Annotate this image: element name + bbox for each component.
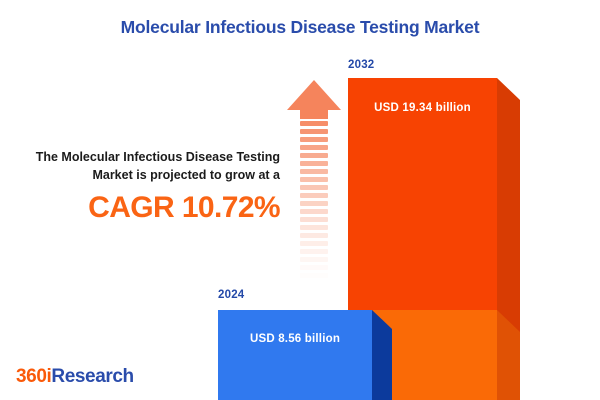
arrow-stripe: [300, 177, 328, 182]
arrow-stripe: [300, 257, 328, 262]
arrow-stripe: [300, 129, 328, 134]
arrow-stripe: [300, 193, 328, 198]
arrow-stripe: [300, 153, 328, 158]
bar-2024-value-label: USD 8.56 billion: [218, 333, 372, 345]
bar-2024-face: [218, 310, 372, 400]
arrow-stripe: [300, 281, 328, 286]
bar-label-year-2024: 2024: [218, 289, 244, 301]
arrow-neck: [300, 109, 328, 119]
infographic-canvas: Molecular Infectious Disease Testing Mar…: [0, 0, 600, 400]
arrow-stripe: [300, 121, 328, 126]
arrow-stripe: [300, 209, 328, 214]
arrow-stripes: [300, 121, 328, 291]
arrow-stripe: [300, 265, 328, 270]
arrow-stripe: [300, 233, 328, 238]
logo-mark: 360i: [16, 366, 51, 387]
arrow-stripe: [300, 249, 328, 254]
annotation-text: The Molecular Infectious Disease Testing…: [18, 148, 280, 184]
bar-2032-value-label: USD 19.34 billion: [348, 102, 497, 114]
arrow-stripe: [300, 273, 328, 278]
page-title: Molecular Infectious Disease Testing Mar…: [0, 17, 600, 38]
arrow-stripe: [300, 217, 328, 222]
arrow-stripe: [300, 169, 328, 174]
arrow-stripe: [300, 225, 328, 230]
arrow-stripe: [300, 185, 328, 190]
arrow-stripe: [300, 241, 328, 246]
arrow-stripe: [300, 161, 328, 166]
cagr-value: CAGR 10.72%: [18, 191, 280, 225]
annotation-block: The Molecular Infectious Disease Testing…: [18, 148, 280, 225]
arrow-head-icon: [287, 80, 341, 110]
arrow-stripe: [300, 201, 328, 206]
brand-logo: 360iResearch: [16, 366, 134, 388]
growth-arrow-icon: [287, 80, 341, 292]
logo-word: Research: [51, 366, 133, 387]
arrow-stripe: [300, 137, 328, 142]
bar-label-year-2032: 2032: [348, 59, 374, 71]
arrow-stripe: [300, 145, 328, 150]
